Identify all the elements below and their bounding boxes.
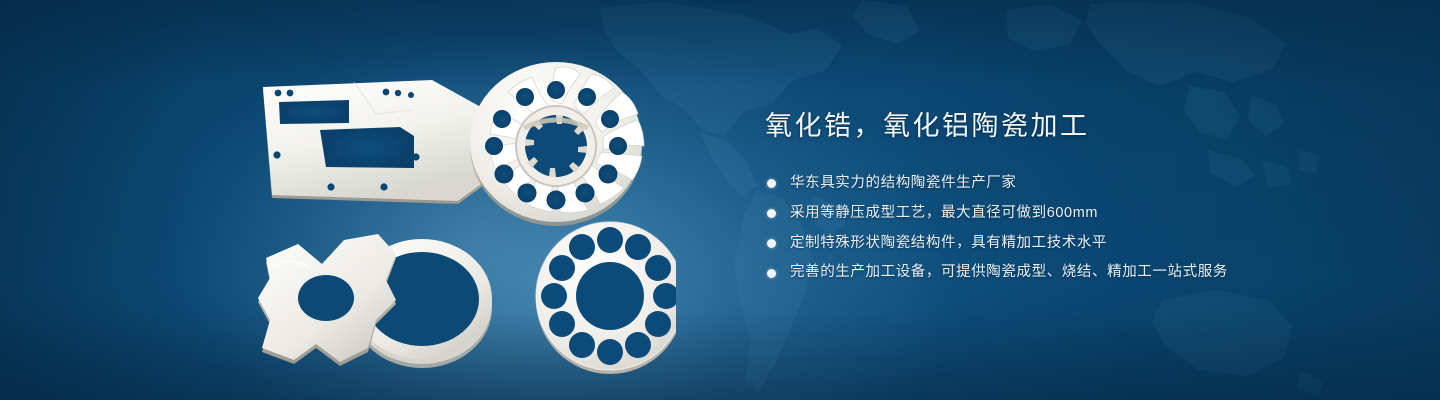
part-ceramic-impeller bbox=[470, 62, 644, 226]
feature-item: 完善的生产加工设备，可提供陶瓷成型、烧结、精加工一站式服务 bbox=[767, 262, 1385, 284]
product-photo bbox=[236, 52, 676, 382]
hero-banner: 氧化锆，氧化铝陶瓷加工 华东具实力的结构陶瓷件生产厂家 采用等静压成型工艺，最大… bbox=[0, 0, 1440, 400]
feature-item: 定制特殊形状陶瓷结构件，具有精加工技术水平 bbox=[767, 233, 1385, 255]
bullet-dot-icon bbox=[767, 239, 776, 248]
feature-item: 华东具实力的结构陶瓷件生产厂家 bbox=[767, 173, 1385, 195]
banner-headline: 氧化锆，氧化铝陶瓷加工 bbox=[765, 104, 1385, 143]
feature-text: 华东具实力的结构陶瓷件生产厂家 bbox=[790, 173, 1017, 195]
feature-text: 完善的生产加工设备，可提供陶瓷成型、烧结、精加工一站式服务 bbox=[790, 262, 1228, 284]
part-perforated-disc bbox=[536, 222, 676, 374]
feature-text: 定制特殊形状陶瓷结构件，具有精加工技术水平 bbox=[790, 233, 1107, 255]
bullet-dot-icon bbox=[767, 179, 776, 188]
feature-item: 采用等静压成型工艺，最大直径可做到600mm bbox=[767, 203, 1385, 225]
bullet-dot-icon bbox=[767, 269, 776, 278]
feature-list: 华东具实力的结构陶瓷件生产厂家 采用等静压成型工艺，最大直径可做到600mm 定… bbox=[767, 173, 1385, 284]
banner-copy: 氧化锆，氧化铝陶瓷加工 华东具实力的结构陶瓷件生产厂家 采用等静压成型工艺，最大… bbox=[765, 104, 1385, 292]
bullet-dot-icon bbox=[767, 209, 776, 218]
part-machined-plate bbox=[263, 80, 488, 204]
feature-text: 采用等静压成型工艺，最大直径可做到600mm bbox=[790, 203, 1098, 225]
